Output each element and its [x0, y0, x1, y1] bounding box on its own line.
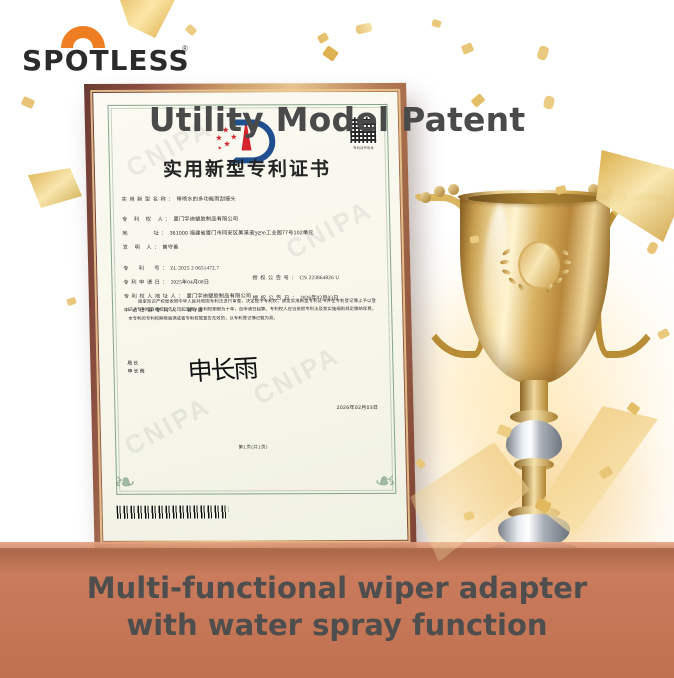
ornament-corner-icon: ❧: [362, 466, 397, 500]
field-value: 曾守善: [162, 245, 178, 252]
field-sep: ：: [161, 231, 166, 238]
qr-caption: 专利证书信息: [348, 145, 378, 150]
product-subtitle-line2: with water spray function: [0, 607, 674, 644]
gold-confetti: [317, 32, 330, 44]
trophy-cup-inner: [468, 193, 602, 204]
certificate-mat: CNIPA CNIPA CNIPA CNIPA ★ ★ ★ ★ ★: [93, 92, 407, 541]
field-sep: ：: [291, 275, 296, 282]
field-value: CN 223864826 U: [300, 275, 340, 282]
legal-paragraph: 国家知识产权局依照中华人民共和国专利法进行审查，决定授予专利权，颁发实用新型专利…: [128, 297, 377, 323]
field-key: 实用新型名称: [122, 197, 169, 204]
field-key: 专 利 号: [123, 266, 162, 273]
field-row: 地 址 ： 361000 福建省厦门市同安区美溪道ული工业园77号102单元: [122, 230, 380, 237]
field-row: 发 明 人 ： 曾守善: [123, 244, 381, 251]
page-title: Utility Model Patent: [0, 100, 674, 139]
laurel-wreath-icon: [498, 236, 574, 298]
trophy-handle-knob: [420, 192, 431, 203]
trophy-stem-upper: [520, 380, 548, 414]
gold-confetti: [431, 19, 442, 28]
framed-certificate: CNIPA CNIPA CNIPA CNIPA ★ ★ ★ ★ ★: [84, 83, 417, 550]
certificate-sheet: CNIPA CNIPA CNIPA CNIPA ★ ★ ★ ★ ★: [93, 92, 407, 541]
gold-confetti: [470, 235, 480, 243]
field-sep: ：: [162, 266, 167, 273]
field-row: 专 利 权 人 ： 厦门宇迪塑胶制品有限公司: [122, 216, 380, 223]
issue-date: 2026年02月03日: [337, 404, 379, 411]
ornament-corner-icon: ❧: [114, 467, 149, 501]
gold-confetti: [461, 42, 475, 54]
trophy-handle-knob: [448, 184, 459, 195]
field-row: 授权公告号 ： CN 223864826 U: [252, 275, 381, 282]
field-key: 授权公告号: [252, 275, 291, 282]
field-sep: ：: [154, 245, 159, 252]
brand-name: SPOTLESS: [22, 44, 190, 77]
gold-confetti: [322, 45, 339, 61]
field-value: 带喷水的多功能雨刮接头: [177, 196, 236, 203]
field-key: 专 利 权 人: [122, 217, 165, 224]
director-block: 局长 申长雨: [127, 361, 145, 376]
gold-ribbon: [28, 168, 82, 208]
gold-confetti: [66, 297, 77, 306]
trophy-handle-knob: [434, 186, 445, 197]
poster-canvas: CNIPA CNIPA CNIPA CNIPA ★ ★ ★ ★ ★: [0, 0, 674, 678]
field-key: 地 址: [122, 231, 161, 238]
field-sep: ：: [168, 197, 173, 204]
field-row: 专 利 号 ： ZL 2025 2 0651472.7: [123, 265, 252, 272]
gold-confetti: [536, 45, 550, 61]
field-sep: ：: [162, 280, 167, 287]
field-key: 专利申请日: [123, 280, 162, 287]
director-name: 申长雨: [127, 368, 145, 376]
field-value: ZL 2025 2 0651472.7: [170, 265, 219, 272]
trophy-silver-sphere: [506, 420, 562, 462]
handwritten-signature: 申长雨: [186, 349, 258, 389]
field-sep: ：: [165, 217, 170, 224]
certificate-barcode: [117, 505, 229, 518]
field-value: 厦门宇迪塑胶制品有限公司: [174, 216, 239, 223]
page-indicator: 第1页(共1页): [101, 444, 405, 451]
product-subtitle: Multi-functional wiper adapter with wate…: [0, 570, 674, 644]
field-row: 专利申请日 ： 2025年04月08日: [123, 279, 252, 286]
gold-confetti: [355, 22, 373, 34]
field-value: 361000 福建省厦门市同安区美溪道ული工业园77号102单元: [170, 230, 314, 237]
product-subtitle-line1: Multi-functional wiper adapter: [0, 570, 674, 607]
field-key: 发 明 人: [123, 245, 155, 252]
field-value: 2025年04月08日: [171, 280, 210, 287]
brand-logo: SPOTLESS ®: [22, 26, 202, 70]
registered-trademark-symbol: ®: [182, 44, 188, 53]
field-row: 实用新型名称 ： 带喷水的多功能雨刮接头: [122, 196, 380, 203]
certificate-title: 实用新型专利证书: [95, 154, 400, 182]
director-label: 局长: [127, 361, 145, 369]
